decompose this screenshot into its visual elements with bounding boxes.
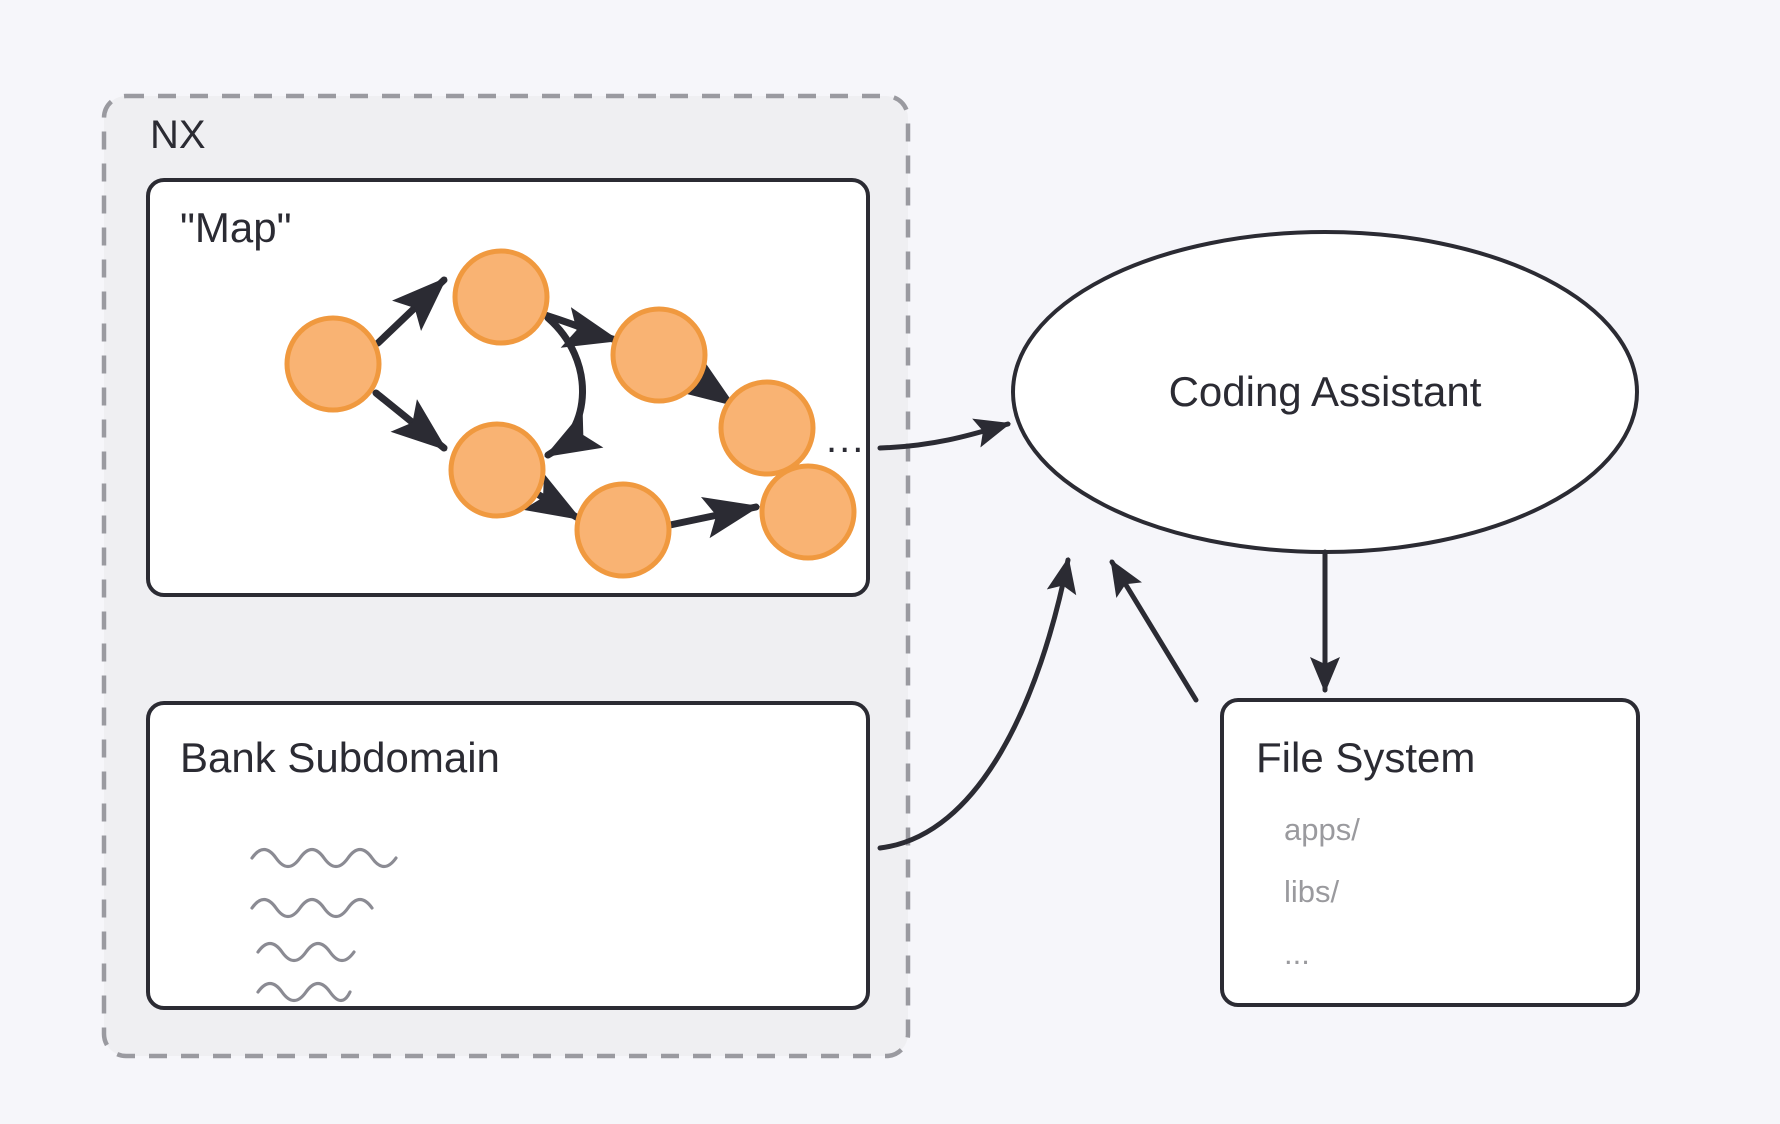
graph-node[interactable] [455,251,547,343]
graph-node[interactable] [287,318,379,410]
file-system-item: apps/ [1284,812,1360,847]
graph-node[interactable] [762,466,854,558]
graph-node[interactable] [613,309,705,401]
architecture-diagram: NX "Map" ... Bank Subdomain [0,0,1780,1124]
map-card-title: "Map" [180,204,292,251]
coding-assistant-label: Coding Assistant [1169,368,1482,415]
diagram-canvas: NX "Map" ... Bank Subdomain [0,0,1780,1124]
bank-subdomain-title: Bank Subdomain [180,734,500,781]
graph-node[interactable] [451,424,543,516]
graph-node[interactable] [577,484,669,576]
file-system-item: libs/ [1284,874,1340,909]
arrow-filesystem-to-assistant [1112,562,1196,700]
file-system-title: File System [1256,734,1475,781]
graph-node[interactable] [721,382,813,474]
map-graph-ellipsis: ... [826,417,865,461]
nx-container-label: NX [150,113,206,157]
file-system-item: ... [1284,936,1310,971]
